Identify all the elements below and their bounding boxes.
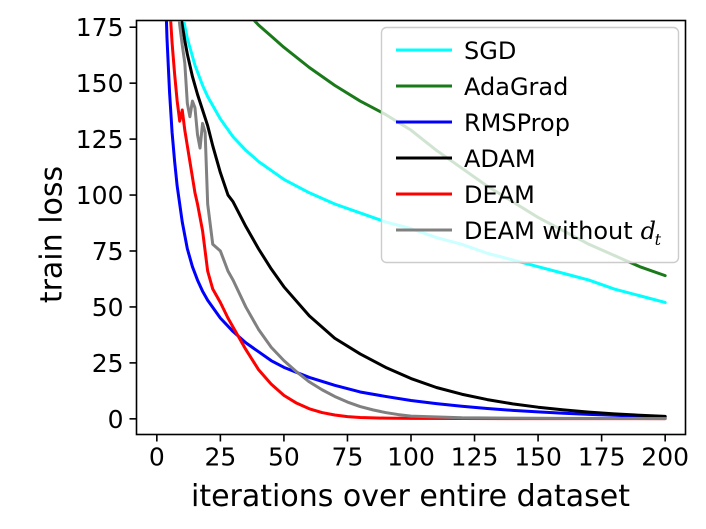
chart-figure: 0255075100125150175200 02550751001251501…: [0, 0, 706, 529]
y-tick-label: 25: [92, 349, 124, 378]
y-tick-label: 150: [76, 69, 124, 98]
x-tick-label: 175: [578, 443, 626, 472]
y-tick-label: 125: [76, 125, 124, 154]
legend-label-rmsprop[interactable]: RMSProp: [464, 109, 570, 137]
x-tick-label: 125: [451, 443, 499, 472]
plot-canvas: 0255075100125150175200 02550751001251501…: [0, 0, 706, 529]
x-axis-label: iterations over entire dataset: [136, 479, 685, 514]
y-tick-label: 100: [76, 181, 124, 210]
x-tick-label: 75: [332, 443, 364, 472]
y-axis-ticks: 0255075100125150175: [76, 13, 137, 434]
x-tick-label: 50: [268, 443, 300, 472]
x-tick-label: 200: [641, 443, 689, 472]
legend-label-sgd[interactable]: SGD: [464, 37, 516, 65]
legend-label-adam[interactable]: ADAM: [464, 145, 536, 173]
x-axis-ticks: 0255075100125150175200: [149, 435, 689, 472]
legend-label-adagrad[interactable]: AdaGrad: [464, 73, 568, 101]
y-tick-label: 175: [76, 13, 124, 42]
y-tick-label: 0: [108, 405, 124, 434]
y-tick-label: 75: [92, 237, 124, 266]
x-tick-label: 25: [204, 443, 236, 472]
y-tick-label: 50: [92, 293, 124, 322]
legend-label-deam-without[interactable]: DEAM without: [464, 217, 633, 245]
x-tick-label: 150: [514, 443, 562, 472]
y-axis-label: train loss: [35, 35, 70, 435]
x-tick-label: 0: [149, 443, 165, 472]
legend-math-subscript: t: [655, 230, 662, 249]
legend-label-deam[interactable]: DEAM: [464, 181, 535, 209]
x-tick-label: 100: [387, 443, 435, 472]
